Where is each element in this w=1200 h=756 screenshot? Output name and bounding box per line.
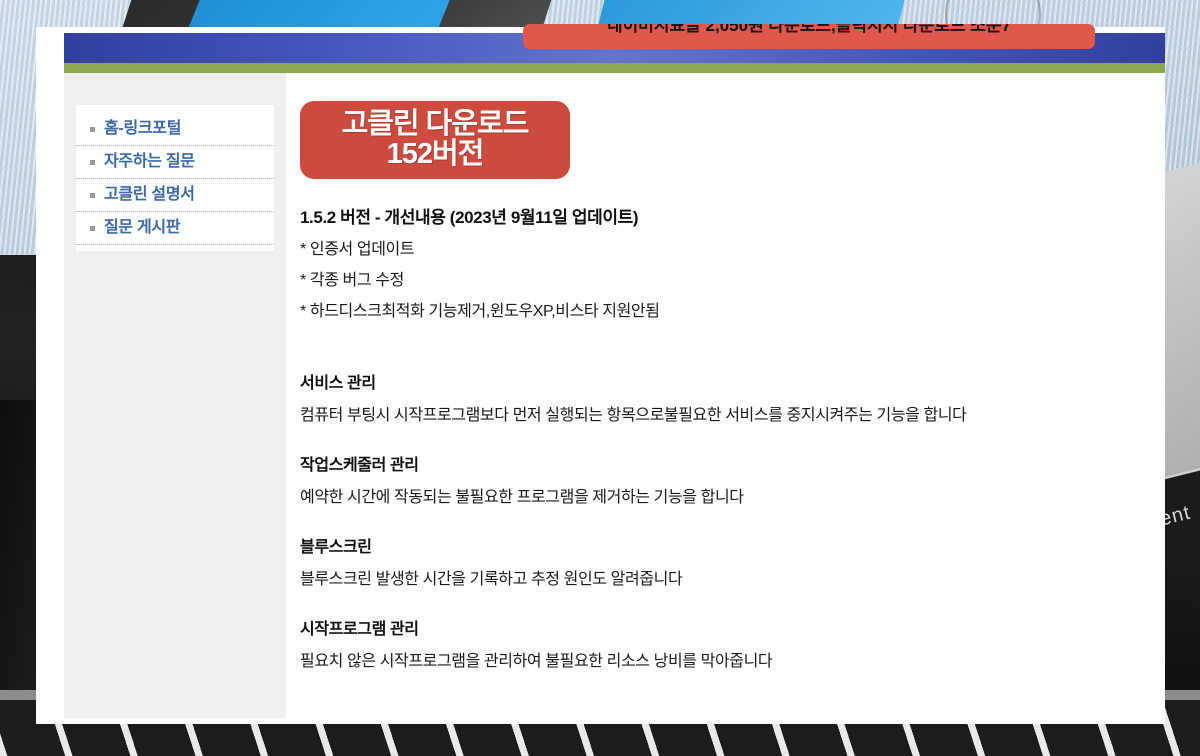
site-header-accent-stripe — [64, 63, 1165, 73]
logo-title: 고클린 다운로드 — [342, 110, 529, 140]
sidebar-item-label: 질문 게시판 — [104, 218, 180, 238]
promo-banner[interactable]: 네이버시표글 2,050원 다운로드,클릭시시 다운로드 소문7 — [523, 24, 1095, 49]
change-item: * 인증서 업데이트 — [300, 235, 1145, 259]
sidebar-item-label: 자주하는 질문 — [104, 152, 195, 172]
section-heading: 서비스 관리 — [300, 369, 1145, 393]
section-body: 필요치 않은 시작프로그램을 관리하여 불필요한 리소스 낭비를 막아줍니다 — [300, 647, 1145, 671]
download-logo-badge[interactable]: 고클린 다운로드 152버전 — [300, 101, 570, 179]
section-heading: 시작프로그램 관리 — [300, 615, 1145, 639]
sidebar-item-home-link-portal[interactable]: 홈-링크포털 — [76, 113, 274, 146]
sidebar-item-manual[interactable]: 고클린 설명서 — [76, 179, 274, 212]
square-bullet-icon — [90, 160, 95, 165]
section-body: 컴퓨터 부팅시 시작프로그램보다 먼저 실행되는 항목으로불필요한 서비스를 중… — [300, 401, 1145, 425]
main-content: 고클린 다운로드 152버전 1.5.2 버전 - 개선내용 (2023년 9월… — [286, 73, 1165, 718]
sidebar-item-label: 고클린 설명서 — [104, 185, 195, 205]
sidebar: 홈-링크포털 자주하는 질문 고클린 설명서 질문 게시판 — [64, 73, 286, 718]
feature-section-service-management: 서비스 관리 컴퓨터 부팅시 시작프로그램보다 먼저 실행되는 항목으로불필요한… — [300, 369, 1145, 425]
change-item: * 각종 버그 수정 — [300, 266, 1145, 290]
sidebar-item-faq[interactable]: 자주하는 질문 — [76, 146, 274, 179]
sidebar-item-question-board[interactable]: 질문 게시판 — [76, 212, 274, 245]
square-bullet-icon — [90, 226, 95, 231]
section-body: 예약한 시간에 작동되는 불필요한 프로그램을 제거하는 기능을 합니다 — [300, 483, 1145, 507]
section-body: 블루스크린 발생한 시간을 기록하고 추정 원인도 알려줍니다 — [300, 565, 1145, 589]
feature-section-task-scheduler: 작업스케줄러 관리 예약한 시간에 작동되는 불필요한 프로그램을 제거하는 기… — [300, 451, 1145, 507]
sidebar-item-label: 홈-링크포털 — [104, 119, 181, 139]
change-item: * 하드디스크최적화 기능제거,윈도우XP,비스타 지원안됨 — [300, 297, 1145, 321]
feature-section-bluescreen: 블루스크린 블루스크린 발생한 시간을 기록하고 추정 원인도 알려줍니다 — [300, 533, 1145, 589]
feature-section-startup-programs: 시작프로그램 관리 필요치 않은 시작프로그램을 관리하여 불필요한 리소스 낭… — [300, 615, 1145, 671]
section-heading: 블루스크린 — [300, 533, 1145, 557]
version-heading: 1.5.2 버전 - 개선내용 (2023년 9월11일 업데이트) — [300, 203, 1145, 228]
sidebar-menu: 홈-링크포털 자주하는 질문 고클린 설명서 질문 게시판 — [76, 105, 274, 251]
square-bullet-icon — [90, 193, 95, 198]
logo-version: 152버전 — [387, 140, 484, 170]
promo-banner-text: 네이버시표글 2,050원 다운로드,클릭시시 다운로드 소문7 — [523, 24, 1095, 36]
page-card: 네이버시표글 2,050원 다운로드,클릭시시 다운로드 소문7 홈-링크포털 … — [36, 27, 1165, 724]
section-heading: 작업스케줄러 관리 — [300, 451, 1145, 475]
square-bullet-icon — [90, 127, 95, 132]
